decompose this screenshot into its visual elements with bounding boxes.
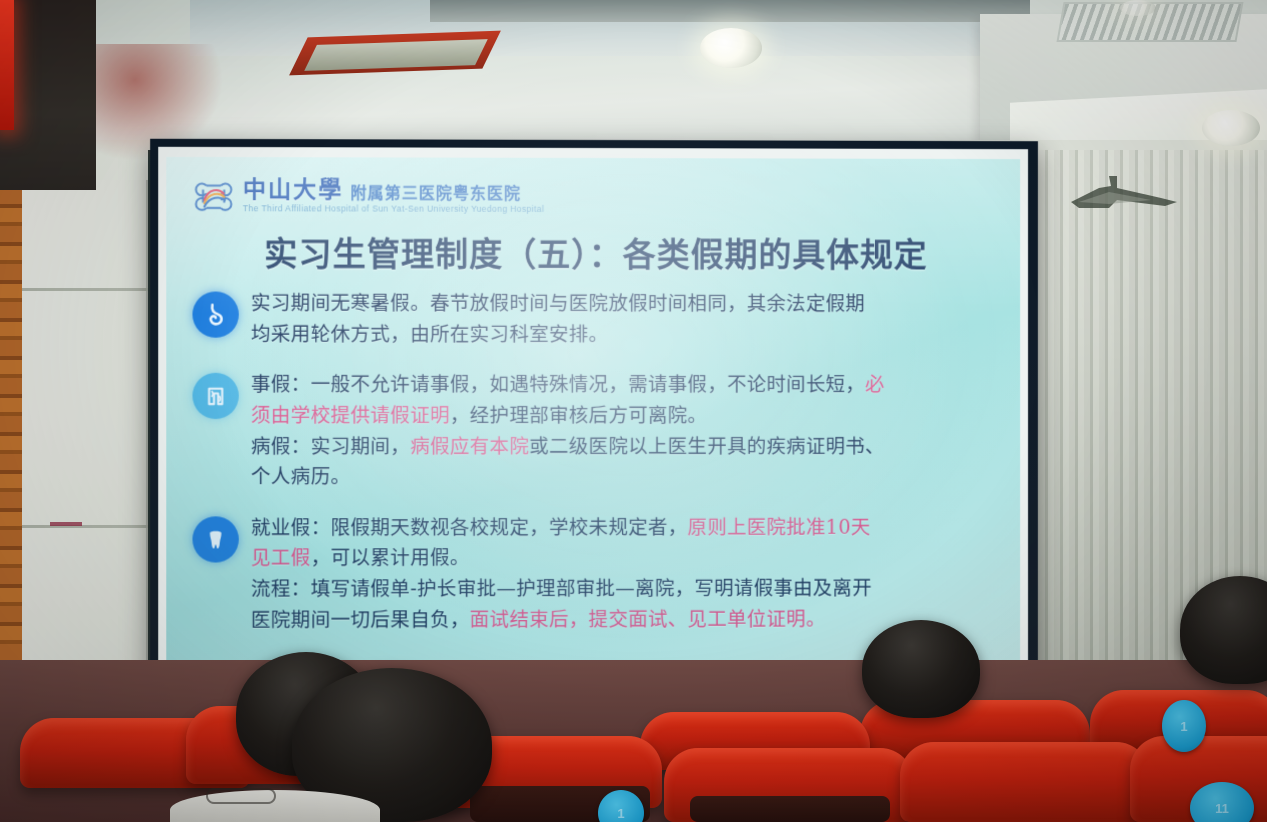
- slide-brand-header: 中山大學 附属第三医院粤东医院 The Third Affiliated Hos…: [192, 171, 998, 223]
- bullet-spacer: [192, 497, 998, 512]
- downlight-icon: [1120, 0, 1156, 16]
- bullet-paragraph: 事假：一般不允许请事假，如遇特殊情况，需请事假，不论时间长短，必: [251, 370, 998, 400]
- seat-number-tag: 11: [1190, 782, 1254, 822]
- bullet-item: 就业假：限假期天数视各校规定，学校未规定者，原则上医院批准10天 见工假，可以累…: [192, 511, 998, 635]
- audience-head: [862, 620, 980, 718]
- bullet-paragraph: 病假：实习期间，病假应有本院或二级医院以上医生开具的疾病证明书、: [251, 431, 998, 461]
- stomach-organ-icon: [192, 291, 238, 337]
- hospital-name-cn: 附属第三医院粤东医院: [350, 185, 521, 202]
- slide-bullet-list: 实习期间无寒暑假。春节放假时间与医院放假时间相同，其余法定假期 均采用轮休方式，…: [192, 287, 998, 635]
- bullet-paragraph: 见工假，可以累计用假。: [251, 543, 998, 574]
- downlight-icon: [700, 28, 762, 68]
- seat: [900, 742, 1150, 822]
- intestine-organ-icon: [192, 373, 238, 419]
- sysu-flower-logo-icon: [192, 175, 234, 217]
- bullet-item: 事假：一般不允许请事假，如遇特殊情况，需请事假，不论时间长短，必 须由学校提供请…: [192, 369, 998, 492]
- bullet-paragraph: 流程：填写请假单-护长审批—护理部审批—离院，写明请假事由及离开: [251, 573, 998, 604]
- ceiling-beam: [430, 0, 1030, 22]
- panel-seam: [22, 288, 148, 291]
- left-wall-panels: [22, 180, 148, 700]
- tooth-icon: [192, 516, 238, 562]
- hospital-name-en: The Third Affiliated Hospital of Sun Yat…: [243, 203, 544, 214]
- panel-seam: [22, 525, 148, 528]
- brand-text-block: 中山大學 附属第三医院粤东医院 The Third Affiliated Hos…: [243, 179, 544, 214]
- seat-shadow: [690, 796, 890, 822]
- red-light-strip: [0, 0, 14, 130]
- seat-number-tag: 1: [598, 790, 644, 822]
- eyeglasses-icon: [206, 788, 276, 804]
- bullet-item: 实习期间无寒暑假。春节放假时间与医院放假时间相同，其余法定假期 均采用轮休方式，…: [192, 287, 998, 349]
- bullet-paragraph: 实习期间无寒暑假。春节放假时间与医院放假时间相同，其余法定假期: [251, 289, 998, 319]
- bullet-text: 实习期间无寒暑假。春节放假时间与医院放假时间相同，其余法定假期 均采用轮休方式，…: [251, 288, 998, 350]
- bullet-paragraph: 均采用轮休方式，由所在实习科室安排。: [251, 319, 998, 349]
- seat-number-tag: 1: [1162, 700, 1206, 752]
- bullet-text: 就业假：限假期天数视各校规定，学校未规定者，原则上医院批准10天 见工假，可以累…: [251, 511, 998, 635]
- slide: 中山大學 附属第三医院粤东医院 The Third Affiliated Hos…: [166, 157, 1020, 681]
- bullet-paragraph: 就业假：限假期天数视各校规定，学校未规定者，原则上医院批准10天: [251, 512, 998, 542]
- university-name-cn: 中山大學: [243, 179, 344, 202]
- bullet-paragraph: 个人病历。: [251, 462, 998, 492]
- downlight-icon: [1202, 110, 1260, 146]
- slide-title: 实习生管理制度（五）：各类假期的具体规定: [192, 227, 998, 276]
- projection-screen-frame: 中山大學 附属第三医院粤东医院 The Third Affiliated Hos…: [150, 139, 1038, 701]
- bullet-text: 事假：一般不允许请事假，如遇特殊情况，需请事假，不论时间长短，必 须由学校提供请…: [251, 369, 998, 492]
- projection-screen: 中山大學 附属第三医院粤东医院 The Third Affiliated Hos…: [166, 157, 1020, 681]
- bullet-paragraph: 须由学校提供请假证明，经护理部审核后方可离院。: [251, 401, 998, 431]
- bullet-spacer: [192, 355, 998, 369]
- wall-bracket-icon: [1065, 172, 1183, 216]
- wall-red-mark: [50, 522, 82, 526]
- dark-upper-left-column: [0, 0, 96, 190]
- lecture-hall-photo: 中山大學 附属第三医院粤东医院 The Third Affiliated Hos…: [0, 0, 1267, 822]
